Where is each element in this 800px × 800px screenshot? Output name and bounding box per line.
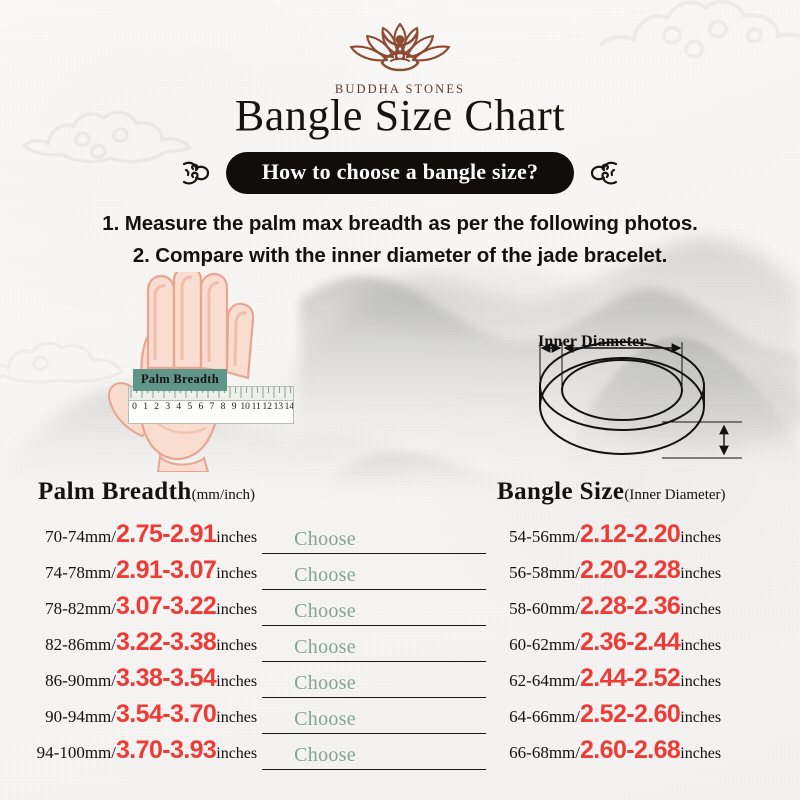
- mm-range: 74-78mm/: [24, 563, 116, 583]
- lotus-meditation-icon: [341, 14, 459, 76]
- unit-label: inches: [680, 637, 721, 655]
- inch-range: 3.38-3.54: [116, 666, 216, 691]
- inch-range: 2.91-3.07: [116, 558, 216, 583]
- page-title: Bangle Size Chart: [0, 90, 800, 141]
- choose-field[interactable]: Choose: [262, 564, 486, 594]
- ruler-number: 2: [151, 402, 162, 412]
- choose-field[interactable]: Choose: [262, 708, 486, 738]
- ruler-number: 8: [218, 402, 229, 412]
- unit-label: inches: [680, 709, 721, 727]
- table-row: 62-64mm/ 2.44-2.52 inches: [494, 666, 794, 702]
- bangle-size-subtitle: (Inner Diameter): [624, 487, 725, 503]
- inch-range: 2.12-2.20: [580, 522, 680, 547]
- palm-breadth-badge: Palm Breadth: [133, 369, 227, 391]
- ruler-number: 1: [140, 402, 151, 412]
- palm-breadth-column-header: Palm Breadth(mm/inch): [38, 478, 255, 506]
- table-row[interactable]: 74-78mm/ 2.91-3.07 inches Choose: [24, 558, 486, 594]
- choose-field[interactable]: Choose: [262, 636, 486, 666]
- palm-breadth-table: 70-74mm/ 2.75-2.91 inches Choose 74-78mm…: [24, 522, 486, 774]
- table-row: 58-60mm/ 2.28-2.36 inches: [494, 594, 794, 630]
- mm-range: 66-68mm/: [494, 743, 580, 763]
- choose-label: Choose: [294, 564, 356, 587]
- choose-underline: [262, 733, 486, 734]
- inch-range: 3.22-3.38: [116, 630, 216, 655]
- mm-range: 82-86mm/: [24, 635, 116, 655]
- unit-label: inches: [216, 565, 257, 583]
- ruler-number: 11: [251, 402, 262, 412]
- choose-underline: [262, 769, 486, 770]
- inch-range: 3.54-3.70: [116, 702, 216, 727]
- unit-label: inches: [680, 673, 721, 691]
- choose-underline: [262, 553, 486, 554]
- choose-field[interactable]: Choose: [262, 528, 486, 558]
- unit-label: inches: [680, 565, 721, 583]
- table-row: 66-68mm/ 2.60-2.68 inches: [494, 738, 794, 774]
- choose-label: Choose: [294, 744, 356, 767]
- unit-label: inches: [680, 745, 721, 763]
- mm-range: 90-94mm/: [24, 707, 116, 727]
- unit-label: inches: [216, 673, 257, 691]
- choose-underline: [262, 661, 486, 662]
- table-row: 64-66mm/ 2.52-2.60 inches: [494, 702, 794, 738]
- table-row[interactable]: 78-82mm/ 3.07-3.22 inches Choose: [24, 594, 486, 630]
- unit-label: inches: [680, 601, 721, 619]
- mm-range: 86-90mm/: [24, 671, 116, 691]
- choose-label: Choose: [294, 708, 356, 731]
- mm-range: 60-62mm/: [494, 635, 580, 655]
- table-row: 60-62mm/ 2.36-2.44 inches: [494, 630, 794, 666]
- ruler-number: 9: [229, 402, 240, 412]
- chinese-cloud-ornament-icon: [180, 156, 214, 190]
- ruler-numbers: 0 1 2 3 4 5 6 7 8 9 10 11 12 13 14: [129, 402, 294, 412]
- choose-label: Choose: [294, 528, 356, 551]
- inch-range: 2.44-2.52: [580, 666, 680, 691]
- inch-range: 2.75-2.91: [116, 522, 216, 547]
- chinese-cloud-ornament-icon: [586, 156, 620, 190]
- ruler-number: 7: [206, 402, 217, 412]
- inch-range: 3.70-3.93: [116, 738, 216, 763]
- choose-label: Choose: [294, 672, 356, 695]
- mm-range: 56-58mm/: [494, 563, 580, 583]
- mm-range: 70-74mm/: [24, 527, 116, 547]
- mm-range: 58-60mm/: [494, 599, 580, 619]
- unit-label: inches: [216, 709, 257, 727]
- banner-pill: How to choose a bangle size?: [226, 152, 574, 194]
- inch-range: 2.28-2.36: [580, 594, 680, 619]
- unit-label: inches: [216, 529, 257, 547]
- unit-label: inches: [216, 601, 257, 619]
- instruction-line-2: 2. Compare with the inner diameter of th…: [0, 240, 800, 272]
- ruler-number: 12: [262, 402, 273, 412]
- choose-field[interactable]: Choose: [262, 600, 486, 630]
- palm-breadth-subtitle: (mm/inch): [192, 487, 255, 503]
- choose-underline: [262, 625, 486, 626]
- ruler-number: 3: [162, 402, 173, 412]
- choose-field[interactable]: Choose: [262, 744, 486, 774]
- ruler-number: 6: [195, 402, 206, 412]
- ruler-number: 4: [173, 402, 184, 412]
- instruction-line-1: 1. Measure the palm max breadth as per t…: [0, 208, 800, 240]
- table-row[interactable]: 86-90mm/ 3.38-3.54 inches Choose: [24, 666, 486, 702]
- inch-range: 2.20-2.28: [580, 558, 680, 583]
- inch-range: 2.36-2.44: [580, 630, 680, 655]
- bangle-ring-diagram: [512, 328, 752, 473]
- choose-underline: [262, 697, 486, 698]
- instructions-block: 1. Measure the palm max breadth as per t…: [0, 208, 800, 272]
- ruler-number: 0: [129, 402, 140, 412]
- inch-range: 2.52-2.60: [580, 702, 680, 727]
- bangle-size-table: 54-56mm/ 2.12-2.20 inches 56-58mm/ 2.20-…: [494, 522, 794, 774]
- ruler-number: 13: [273, 402, 284, 412]
- table-row[interactable]: 82-86mm/ 3.22-3.38 inches Choose: [24, 630, 486, 666]
- banner-row: How to choose a bangle size?: [0, 152, 800, 194]
- mm-range: 78-82mm/: [24, 599, 116, 619]
- mm-range: 62-64mm/: [494, 671, 580, 691]
- bangle-size-title: Bangle Size: [497, 478, 624, 505]
- table-row: 54-56mm/ 2.12-2.20 inches: [494, 522, 794, 558]
- ruler-illustration: 0 1 2 3 4 5 6 7 8 9 10 11 12 13 14: [128, 386, 294, 424]
- choose-label: Choose: [294, 600, 356, 623]
- inch-range: 3.07-3.22: [116, 594, 216, 619]
- table-row[interactable]: 70-74mm/ 2.75-2.91 inches Choose: [24, 522, 486, 558]
- choose-underline: [262, 589, 486, 590]
- bangle-size-column-header: Bangle Size(Inner Diameter): [497, 478, 726, 506]
- ruler-number: 10: [240, 402, 251, 412]
- brand-logo-block: BUDDHA STONES: [0, 14, 800, 97]
- mm-range: 94-100mm/: [24, 743, 116, 763]
- choose-field[interactable]: Choose: [262, 672, 486, 702]
- inch-range: 2.60-2.68: [580, 738, 680, 763]
- palm-breadth-title: Palm Breadth: [38, 478, 192, 505]
- table-row: 56-58mm/ 2.20-2.28 inches: [494, 558, 794, 594]
- unit-label: inches: [680, 529, 721, 547]
- ruler-number: 5: [184, 402, 195, 412]
- table-row[interactable]: 94-100mm/ 3.70-3.93 inches Choose: [24, 738, 486, 774]
- unit-label: inches: [216, 745, 257, 763]
- mm-range: 64-66mm/: [494, 707, 580, 727]
- ruler-number: 14: [284, 402, 294, 412]
- choose-label: Choose: [294, 636, 356, 659]
- table-row[interactable]: 90-94mm/ 3.54-3.70 inches Choose: [24, 702, 486, 738]
- unit-label: inches: [216, 637, 257, 655]
- mm-range: 54-56mm/: [494, 527, 580, 547]
